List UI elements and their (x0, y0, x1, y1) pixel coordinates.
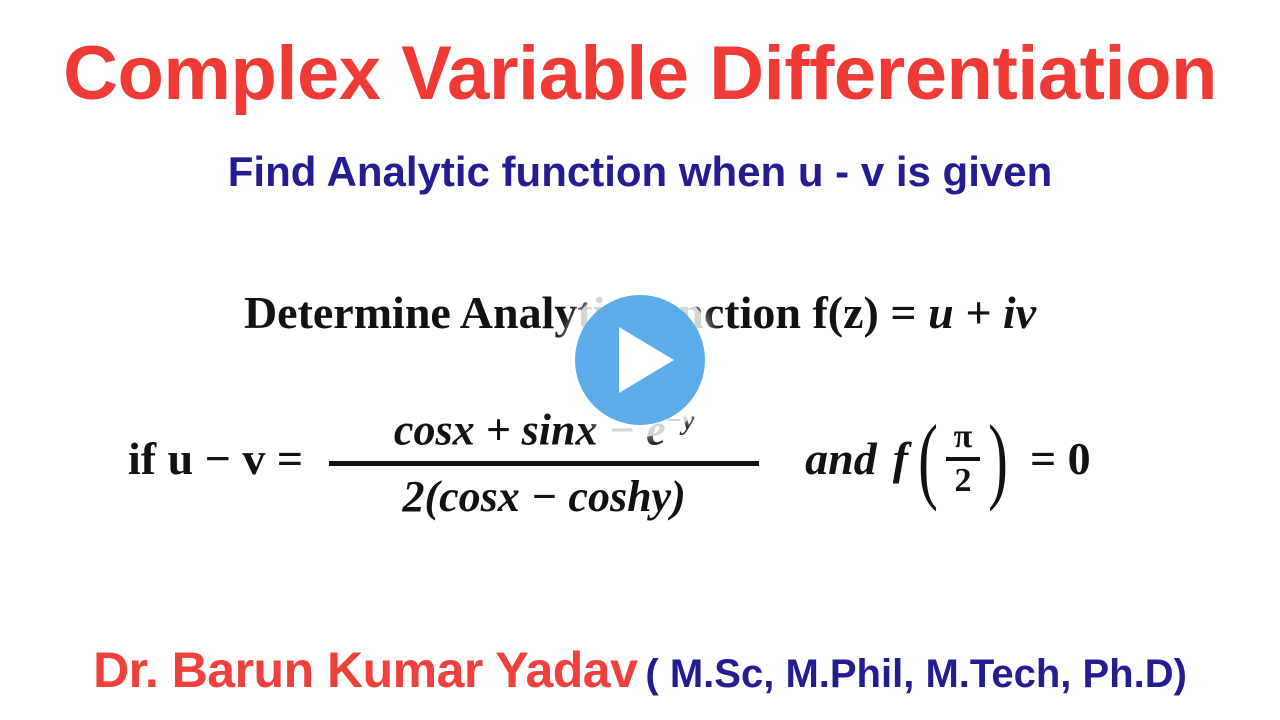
page-title: Complex Variable Differentiation (0, 26, 1280, 122)
play-button-disc[interactable] (575, 295, 705, 425)
author-credit: Dr. Barun Kumar Yadav( M.Sc, M.Phil, M.T… (0, 637, 1280, 716)
condition-fraction-denominator: 2 (955, 461, 972, 498)
math-statement-rhs: u + iv (928, 287, 1036, 338)
math-condition-and: and (805, 432, 893, 485)
author-credentials: ( M.Sc, M.Phil, M.Tech, Ph.D) (637, 652, 1187, 696)
numerator-term-a: cosx + sinx (394, 406, 598, 455)
math-condition-function: f (893, 432, 912, 485)
math-condition: and f ( π 2 ) = 0 (759, 420, 1091, 498)
math-paren-close: ) (988, 424, 1008, 493)
math-equation-lhs: if u − v = (128, 431, 329, 487)
math-paren-open: ( (918, 424, 938, 493)
play-button[interactable] (563, 283, 717, 437)
math-condition-equals: = 0 (1014, 432, 1091, 485)
video-thumbnail: Complex Variable Differentiation Find An… (0, 0, 1280, 720)
play-icon (619, 327, 674, 393)
math-fraction-denominator: 2(cosx − coshy) (392, 466, 695, 524)
page-subtitle: Find Analytic function when u - v is giv… (0, 140, 1280, 204)
condition-fraction-numerator: π (954, 420, 973, 457)
math-condition-fraction: π 2 (944, 420, 982, 498)
author-name: Dr. Barun Kumar Yadav (93, 642, 637, 698)
